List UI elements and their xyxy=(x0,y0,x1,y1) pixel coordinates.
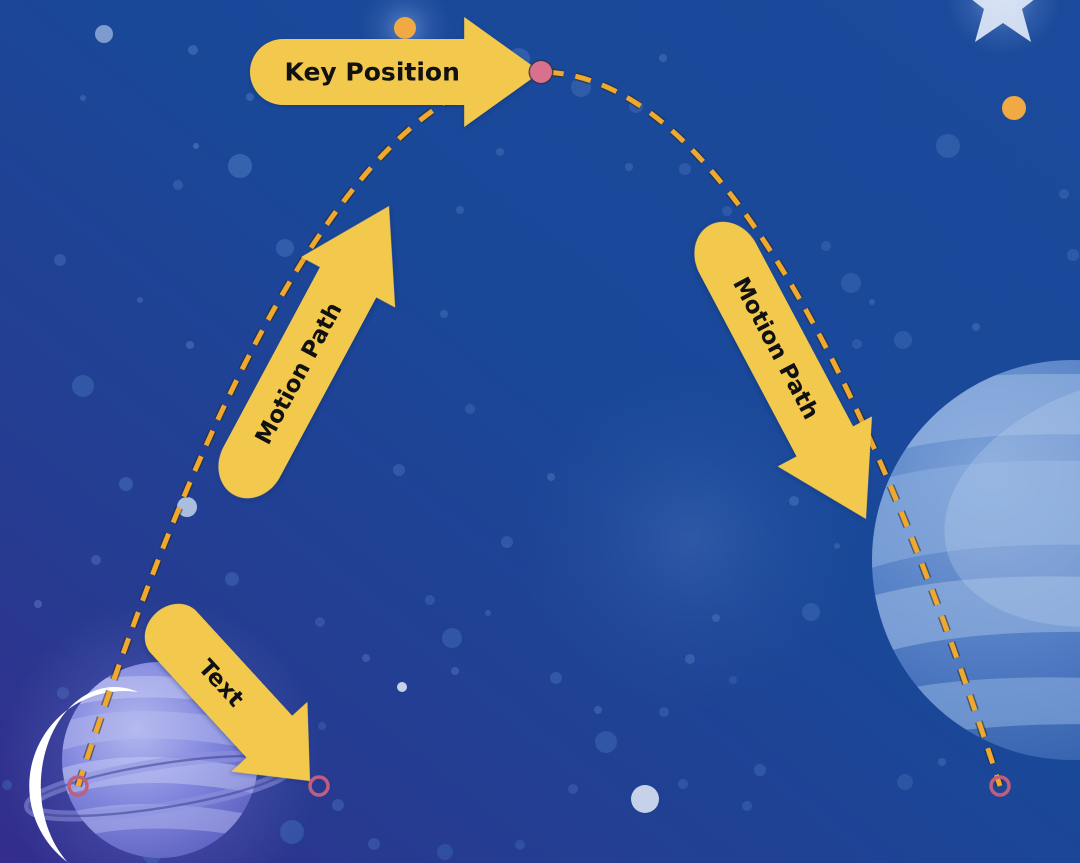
star xyxy=(225,572,239,586)
star xyxy=(91,555,101,565)
star xyxy=(173,180,183,190)
star xyxy=(34,600,42,608)
star xyxy=(754,764,766,776)
star xyxy=(440,310,448,318)
star xyxy=(659,707,669,717)
star xyxy=(276,239,294,257)
star xyxy=(722,206,732,216)
arrow-label-key-position: Key Position xyxy=(285,58,460,87)
star xyxy=(625,163,633,171)
star xyxy=(852,339,862,349)
orange-dot-right xyxy=(1002,96,1026,120)
star xyxy=(1067,249,1079,261)
star xyxy=(437,844,453,860)
star xyxy=(95,25,113,43)
star xyxy=(332,799,344,811)
key-position-marker[interactable] xyxy=(529,60,554,85)
star xyxy=(465,404,475,414)
star xyxy=(729,676,737,684)
star xyxy=(659,54,667,62)
star xyxy=(547,473,555,481)
star xyxy=(742,801,752,811)
star xyxy=(821,241,831,251)
star xyxy=(678,779,688,789)
star xyxy=(80,95,86,101)
star xyxy=(137,297,143,303)
star xyxy=(568,784,578,794)
star xyxy=(972,323,980,331)
star xyxy=(186,341,194,349)
star xyxy=(894,331,912,349)
star xyxy=(685,654,695,664)
star xyxy=(515,840,525,850)
star xyxy=(594,706,602,714)
star xyxy=(228,154,252,178)
star xyxy=(397,682,407,692)
star xyxy=(897,774,913,790)
star xyxy=(318,722,326,730)
star xyxy=(315,617,325,627)
star xyxy=(72,375,94,397)
marker-fill xyxy=(530,61,552,83)
star xyxy=(456,206,464,214)
star xyxy=(485,610,491,616)
star xyxy=(368,838,380,850)
star xyxy=(936,134,960,158)
star xyxy=(393,464,405,476)
star xyxy=(802,603,820,621)
star xyxy=(550,672,562,684)
star xyxy=(869,299,875,305)
star xyxy=(119,477,133,491)
star xyxy=(841,273,861,293)
star xyxy=(425,595,435,605)
star xyxy=(834,543,840,549)
star xyxy=(362,654,370,662)
star xyxy=(1059,189,1069,199)
star xyxy=(496,148,504,156)
motion-path-scene: Key PositionMotion PathMotion PathText xyxy=(0,0,1080,863)
star xyxy=(938,758,946,766)
star xyxy=(188,45,198,55)
star xyxy=(789,496,799,506)
star xyxy=(712,614,720,622)
star xyxy=(679,163,691,175)
star xyxy=(193,143,199,149)
star xyxy=(501,536,513,548)
star xyxy=(595,731,617,753)
star xyxy=(631,785,659,813)
diagram-canvas: Key PositionMotion PathMotion PathText K… xyxy=(0,0,1080,863)
star xyxy=(246,93,254,101)
star xyxy=(54,254,66,266)
star xyxy=(442,628,462,648)
star xyxy=(451,667,459,675)
